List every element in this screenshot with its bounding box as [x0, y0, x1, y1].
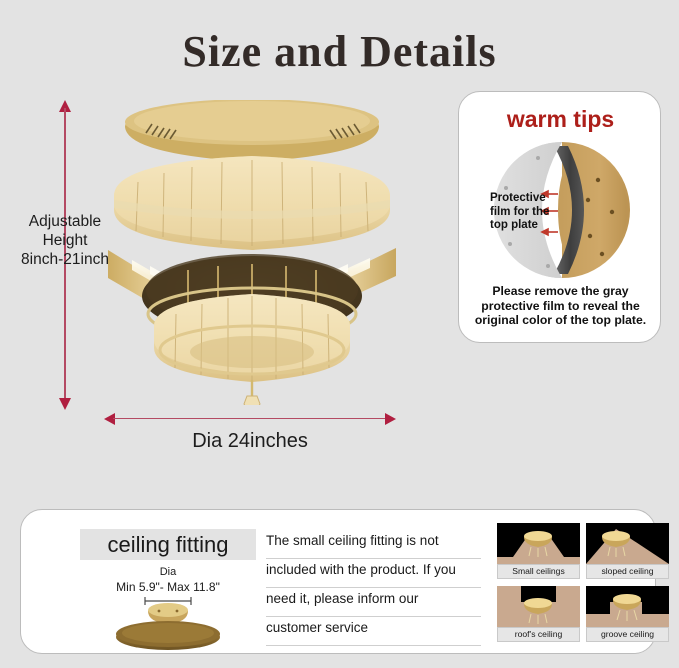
warm-tips-card: warm tips — [458, 91, 661, 343]
ceiling-type-sloped-ceiling: sloped ceiling — [586, 523, 669, 581]
ceiling-type-caption: roof's ceiling — [497, 627, 580, 642]
ceiling-type-small-ceilings: Small ceilings — [497, 523, 580, 581]
sloped-ceiling-image — [586, 523, 669, 564]
chandelier-illustration — [92, 100, 412, 405]
ceiling-fitting-illustration — [107, 595, 229, 653]
service-note-line: The small ceiling fitting is not — [266, 530, 481, 559]
groove-ceiling-image — [586, 586, 669, 627]
protective-film-diagram: Protective film for the top plate — [476, 140, 648, 280]
service-note: The small ceiling fitting is not include… — [266, 530, 481, 646]
ceiling-fitting-dia-label: Dia — [80, 566, 256, 578]
roofs-ceiling-image — [497, 586, 580, 627]
ceiling-type-groove-ceiling: groove ceiling — [586, 586, 669, 644]
ceiling-type-caption: sloped ceiling — [586, 564, 669, 579]
film-label-line-3: top plate — [490, 219, 576, 233]
ceiling-type-caption: Small ceilings — [497, 564, 580, 579]
ceiling-type-roofs-ceiling: roof's ceiling — [497, 586, 580, 644]
service-note-line: included with the product. If you — [266, 559, 481, 588]
ceiling-fitting-range-label: Min 5.9"- Max 11.8" — [70, 580, 266, 594]
protective-film-label: Protective film for the top plate — [490, 192, 576, 233]
film-label-line-1: Protective — [490, 192, 576, 206]
warm-tips-note: Please remove the gray protective film t… — [467, 284, 654, 328]
ceiling-type-thumbnails: Small ceilings s — [497, 523, 669, 644]
service-note-line: need it, please inform our — [266, 588, 481, 617]
ceiling-fitting-title: ceiling fitting — [80, 529, 256, 560]
small-ceilings-image — [497, 523, 580, 564]
ceiling-fitting-panel: ceiling fitting Dia Min 5.9"- Max 11.8" — [20, 509, 656, 654]
diameter-dimension-arrow — [104, 411, 396, 426]
product-infographic: Size and Details Adjustable Height 8inch… — [0, 0, 679, 668]
diameter-dimension-label: Dia 24inches — [100, 430, 400, 453]
arrow-right-icon — [385, 413, 396, 425]
page-title: Size and Details — [0, 26, 679, 77]
service-note-line: customer service — [266, 617, 481, 646]
ceiling-type-caption: groove ceiling — [586, 627, 669, 642]
film-label-line-2: film for the — [490, 206, 576, 220]
arrow-down-icon — [59, 398, 71, 410]
warm-tips-title: warm tips — [459, 106, 662, 133]
dimension-line — [113, 418, 387, 420]
